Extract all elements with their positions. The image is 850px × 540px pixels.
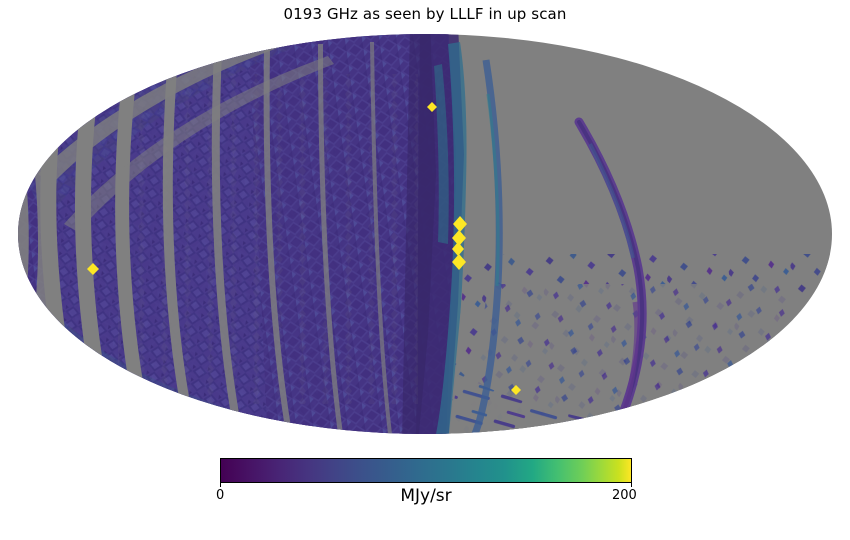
page-title: 0193 GHz as seen by LLLF in up scan — [0, 5, 850, 23]
figure-canvas: 0193 GHz as seen by LLLF in up scan — [0, 0, 850, 540]
mollweide-sky-map — [18, 34, 832, 434]
map-pixels — [18, 34, 832, 434]
colorbar-unit-label: MJy/sr — [220, 486, 632, 506]
colorbar-gradient — [220, 458, 632, 483]
masked-speckle — [118, 74, 418, 404]
colorbar: 0 200 MJy/sr — [220, 458, 632, 484]
sky-map-panel — [18, 34, 832, 434]
